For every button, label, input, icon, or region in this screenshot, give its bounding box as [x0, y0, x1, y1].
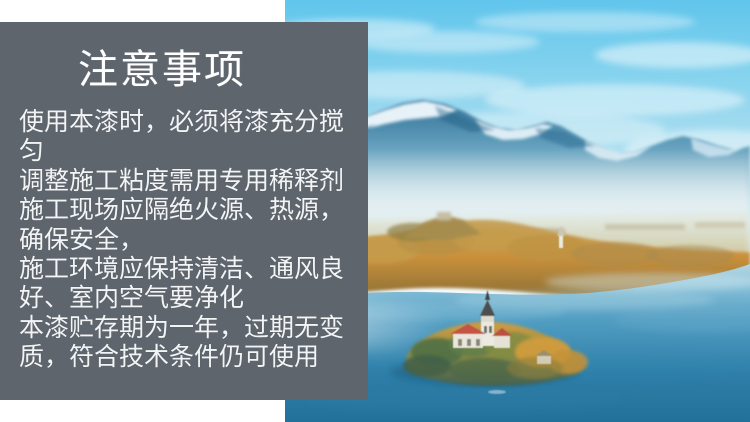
- notice-line: 使用本漆时，必须将漆充分搅匀: [19, 108, 354, 167]
- notice-line: 调整施工粘度需用专用稀释剂: [19, 167, 354, 196]
- notice-panel: 注意事项 使用本漆时，必须将漆充分搅匀 调整施工粘度需用专用稀释剂 施工现场应隔…: [0, 22, 368, 400]
- notice-line: 施工环境应保持清洁、通风良好、室内空气要净化: [19, 255, 354, 314]
- notice-line: 施工现场应隔绝火源、热源，确保安全，: [19, 196, 354, 255]
- notice-line: 本漆贮存期为一年，过期无变质，符合技术条件仍可使用: [19, 314, 354, 373]
- page-title: 注意事项: [78, 46, 246, 93]
- notice-body: 使用本漆时，必须将漆充分搅匀 调整施工粘度需用专用稀释剂 施工现场应隔绝火源、热…: [19, 108, 354, 373]
- slide-canvas: 注意事项 使用本漆时，必须将漆充分搅匀 调整施工粘度需用专用稀释剂 施工现场应隔…: [0, 0, 750, 422]
